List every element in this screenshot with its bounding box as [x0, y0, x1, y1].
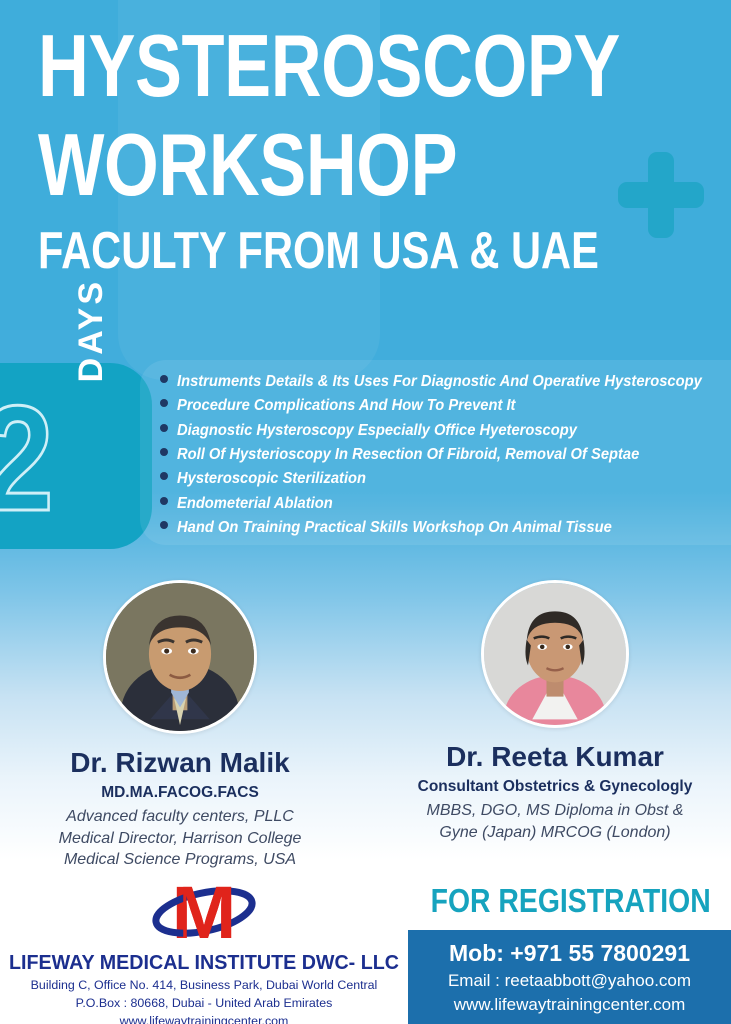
topic-label: Hand On Training Practical Skills Worksh…	[177, 518, 612, 539]
speaker-photo-0	[103, 580, 257, 734]
institute-address-line-2: P.O.Box : 80668, Dubai - United Arab Emi…	[0, 995, 408, 1011]
bullet-dot-icon	[160, 375, 168, 383]
topic-item: Roll Of Hysterioscopy In Resection Of Fi…	[160, 445, 731, 466]
speaker-affiliation-0-line-0: Advanced faculty centers, PLLC	[10, 806, 350, 827]
topic-item: Hand On Training Practical Skills Worksh…	[160, 518, 731, 539]
contact-email[interactable]: Email : reetaabbott@yahoo.com	[408, 970, 731, 992]
topic-label: Roll Of Hysterioscopy In Resection Of Fi…	[177, 445, 639, 466]
topic-label: Diagnostic Hysteroscopy Especially Offic…	[177, 421, 577, 442]
poster-subtitle: FACULTY FROM USA & UAE	[38, 228, 534, 276]
bullet-dot-icon	[160, 497, 168, 505]
lifeway-logo-icon: M M	[148, 876, 260, 948]
speaker-card-1: Dr. Reeta Kumar Consultant Obstetrics & …	[390, 580, 720, 843]
duration-label: DAYS	[74, 279, 108, 399]
speaker-name-1: Dr. Reeta Kumar	[390, 742, 720, 773]
topic-item: Instruments Details & Its Uses For Diagn…	[160, 372, 731, 393]
speaker-affiliation-1-line-0: MBBS, DGO, MS Diploma in Obst &	[390, 800, 720, 821]
bullet-dot-icon	[160, 521, 168, 529]
speaker-affiliation-1-line-1: Gyne (Japan) MRCOG (London)	[390, 822, 720, 843]
contact-panel: Mob: +971 55 7800291 Email : reetaabbott…	[408, 930, 731, 1024]
contact-website[interactable]: www.lifewaytrainingcenter.com	[408, 994, 731, 1016]
bullet-dot-icon	[160, 448, 168, 456]
topics-list: Instruments Details & Its Uses For Diagn…	[160, 372, 731, 543]
title-line-1: HYSTEROSCOPY	[38, 26, 534, 107]
topic-item: Endometerial Ablation	[160, 494, 731, 515]
topic-label: Instruments Details & Its Uses For Diagn…	[177, 372, 702, 393]
institute-name: LIFEWAY MEDICAL INSTITUTE DWC- LLC	[8, 952, 400, 975]
institute-website[interactable]: www.lifewaytrainingcenter.com	[0, 1013, 408, 1024]
registration-heading: FOR REGISTRATION	[431, 884, 709, 917]
speaker-affiliation-0-line-2: Medical Science Programs, USA	[10, 849, 350, 870]
topic-label: Hysteroscopic Sterilization	[177, 469, 366, 490]
title-line-2: WORKSHOP	[38, 125, 534, 206]
topic-item: Hysteroscopic Sterilization	[160, 469, 731, 490]
speaker-affiliation-0-line-1: Medical Director, Harrison College	[10, 828, 350, 849]
topic-item: Procedure Complications And How To Preve…	[160, 396, 731, 417]
duration-badge: 2 DAYS	[0, 363, 152, 549]
speaker-name-0: Dr. Rizwan Malik	[10, 748, 350, 779]
poster-title: HYSTEROSCOPY WORKSHOP FACULTY FROM USA &…	[38, 26, 658, 276]
speaker-photo-1	[481, 580, 629, 728]
institute-address-line-1: Building C, Office No. 414, Business Par…	[0, 977, 408, 993]
bullet-dot-icon	[160, 399, 168, 407]
contact-mobile[interactable]: Mob: +971 55 7800291	[408, 939, 731, 968]
speaker-credentials-0: MD.MA.FACOG.FACS	[10, 784, 350, 803]
duration-number: 2	[0, 383, 54, 533]
topic-item: Diagnostic Hysteroscopy Especially Offic…	[160, 421, 731, 442]
speaker-credentials-1: Consultant Obstetrics & Gynecologly	[390, 778, 720, 797]
speaker-card-0: Dr. Rizwan Malik MD.MA.FACOG.FACS Advanc…	[10, 580, 350, 870]
poster-canvas: HYSTEROSCOPY WORKSHOP FACULTY FROM USA &…	[0, 0, 731, 1024]
bullet-dot-icon	[160, 424, 168, 432]
topic-label: Endometerial Ablation	[177, 494, 333, 515]
organizer-block: M M LIFEWAY MEDICAL INSTITUTE DWC- LLC B…	[0, 876, 408, 1024]
bullet-dot-icon	[160, 472, 168, 480]
topic-label: Procedure Complications And How To Preve…	[177, 396, 515, 417]
